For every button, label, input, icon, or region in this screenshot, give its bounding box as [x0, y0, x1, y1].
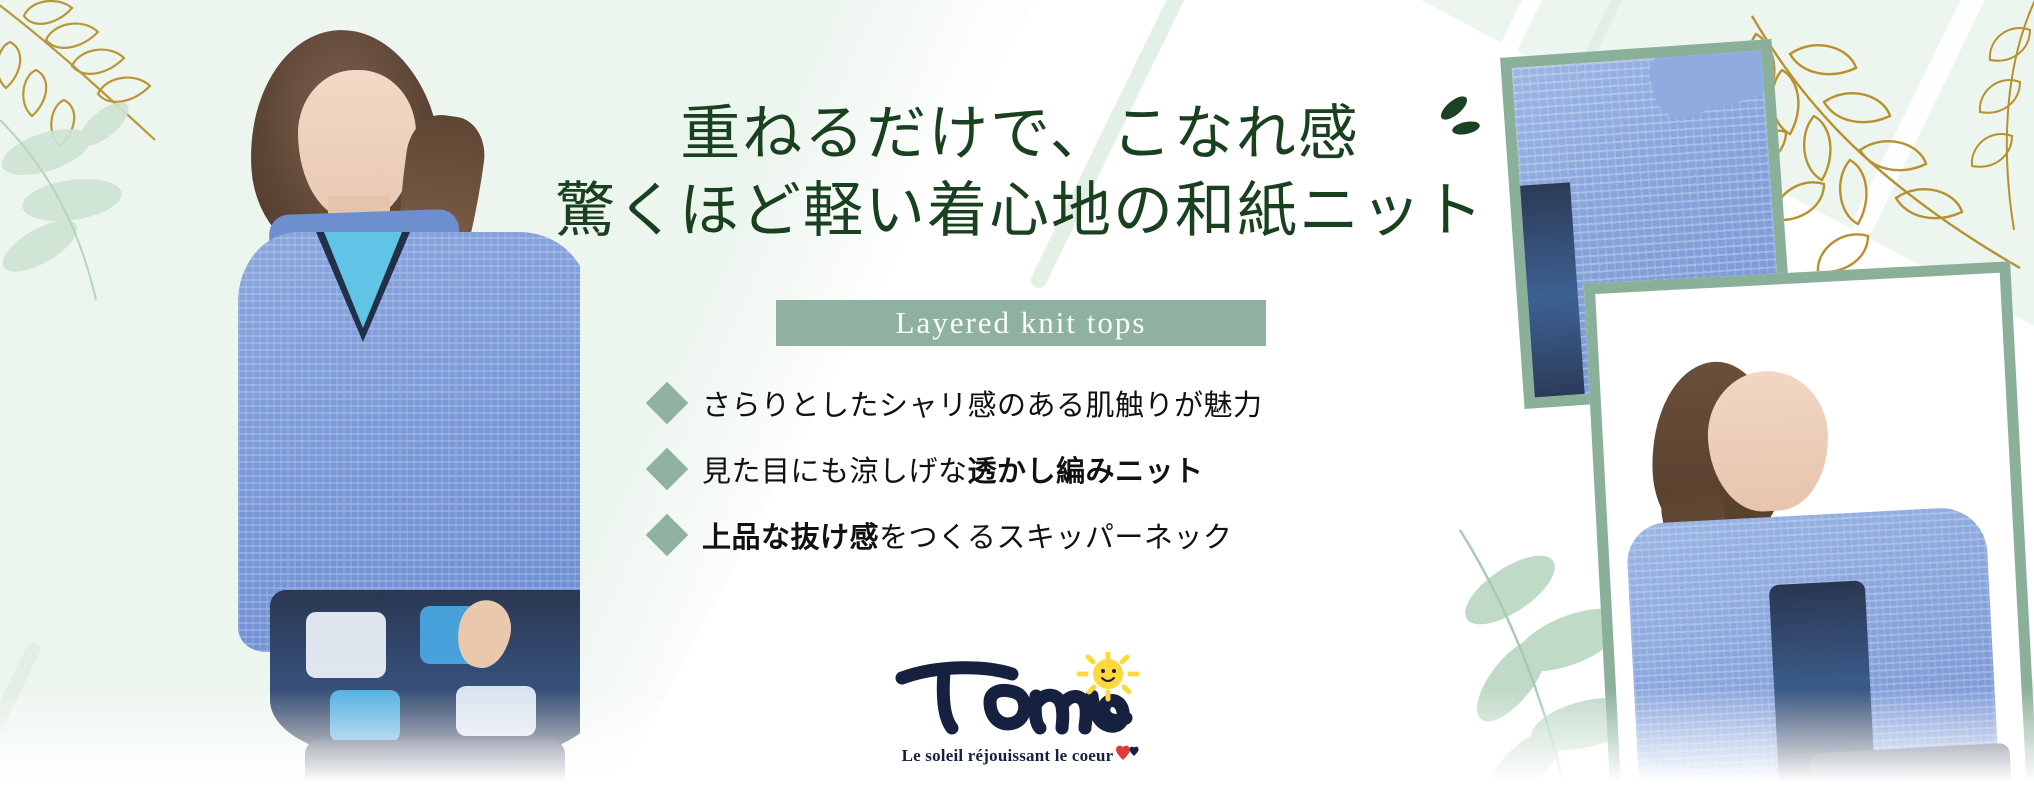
- list-item: 上品な抜け感をつくるスキッパーネック: [652, 512, 1492, 558]
- list-item: 見た目にも涼しげな透かし編みニット: [652, 446, 1492, 492]
- logo-wordmark: [886, 652, 1156, 738]
- brand-logo[interactable]: Le soleil réjouissant le coeur: [886, 652, 1156, 762]
- feature-text-3: 上品な抜け感をつくるスキッパーネック: [702, 514, 1232, 556]
- model-knit-vest: [238, 232, 580, 652]
- promo-banner[interactable]: 重ねるだけで、こなれ感 驚くほど軽い着心地の和紙ニット Layered knit…: [0, 0, 2034, 808]
- status-badge: Layered knit tops: [776, 300, 1266, 346]
- logo-tagline: Le soleil réjouissant le coeur: [886, 745, 1156, 766]
- knit-texture: [238, 232, 580, 652]
- feature-list: さらりとしたシャリ感のある肌触りが魅力 見た目にも涼しげな透かし編みニット 上品…: [652, 380, 1492, 578]
- feature-text-1: さらりとしたシャリ感のある肌触りが魅力: [702, 382, 1263, 424]
- headline-line-2: 驚くほど軽い着心地の和紙ニット: [540, 173, 1500, 250]
- logo-dot: [1006, 700, 1013, 707]
- model-main-photo: [120, 0, 580, 808]
- heart-icon: [1116, 745, 1140, 766]
- diamond-icon: [646, 382, 688, 424]
- feature-text-2: 見た目にも涼しげな透かし編みニット: [702, 448, 1204, 490]
- badge-label: Layered knit tops: [896, 305, 1147, 341]
- diamond-icon: [646, 448, 688, 490]
- diamond-icon: [646, 514, 688, 556]
- headline-line-1: 重ねるだけで、こなれ感: [540, 96, 1500, 173]
- page-title: 重ねるだけで、こなれ感 驚くほど軽い着心地の和紙ニット: [540, 96, 1500, 250]
- smiling-sun-icon: [1079, 652, 1137, 699]
- list-item: さらりとしたシャリ感のある肌触りが魅力: [652, 380, 1492, 426]
